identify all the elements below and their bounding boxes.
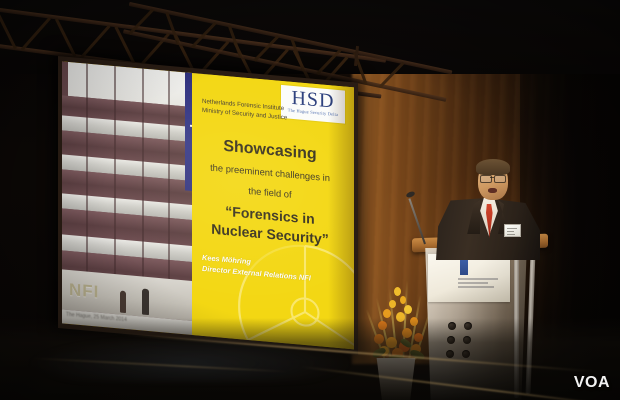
- speaker-person: [436, 158, 542, 256]
- speaker-glasses-bridge: [490, 177, 494, 178]
- photograph-canvas: NFI The Hague, 25 March 2014: [0, 0, 620, 400]
- slide-yellow-panel: HSD The Hague Security Delta Netherlands…: [192, 73, 354, 349]
- building-nfi-sign: NFI: [69, 281, 99, 301]
- voa-watermark: VOA: [574, 375, 610, 391]
- photo-pedestrian-b: [120, 291, 126, 314]
- slide-title-block: Showcasing the preeminent challenges in …: [192, 135, 348, 249]
- projection-screen: NFI The Hague, 25 March 2014: [58, 56, 358, 355]
- photo-pedestrian-a: [142, 288, 149, 315]
- projected-slide: NFI The Hague, 25 March 2014: [62, 61, 354, 349]
- speaker-mouth: [488, 188, 497, 193]
- nfi-ministry-caption: Netherlands Forensic Institute Ministry …: [202, 98, 287, 124]
- hsd-logo: HSD The Hague Security Delta: [281, 85, 345, 124]
- podium-sign-panel: [428, 254, 510, 302]
- slide-building-photo: NFI The Hague, 25 March 2014: [62, 61, 192, 335]
- speaker-name-badge: [504, 224, 521, 237]
- speaker-glasses-right-lens: [494, 175, 506, 183]
- podium-sign-logo-icon: [460, 259, 468, 275]
- speaker-hair: [476, 159, 510, 175]
